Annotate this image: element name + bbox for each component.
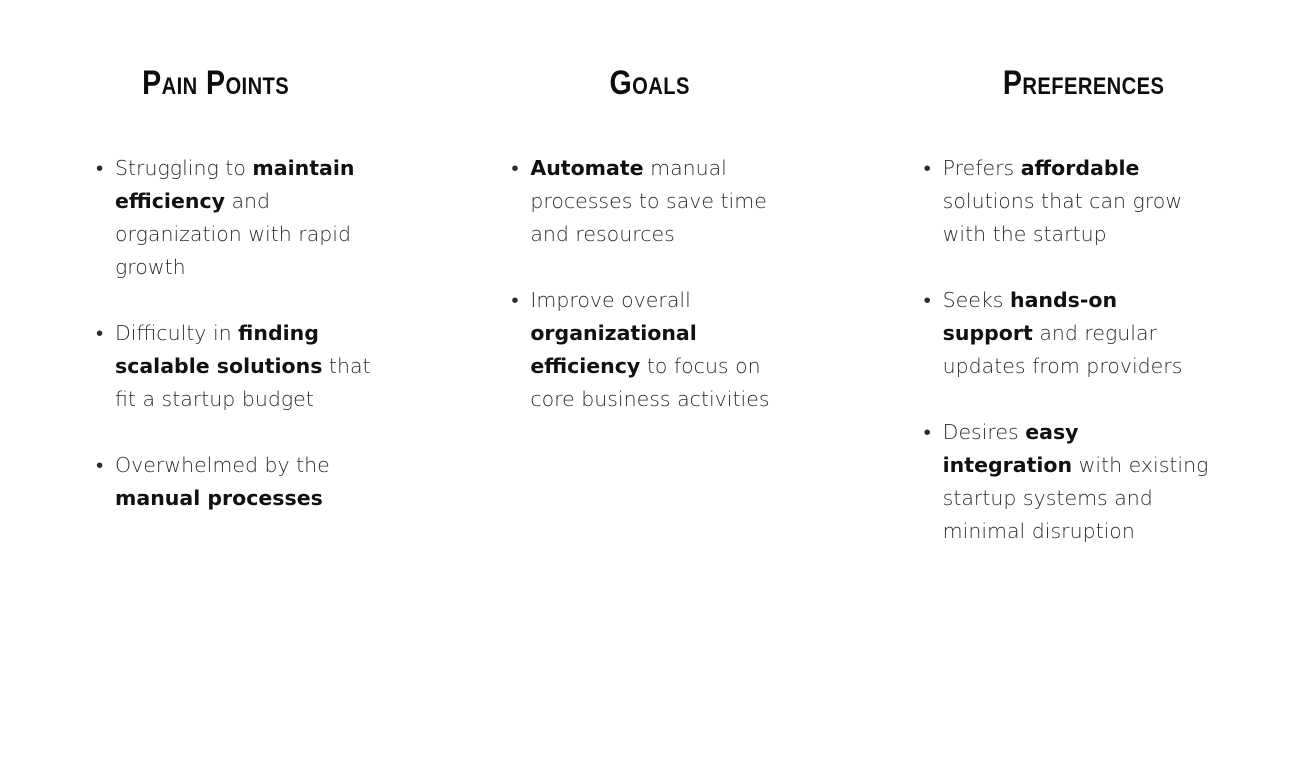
bullet-dot-icon: • [924,416,931,449]
bullet-list-preferences: •Prefers affordable solutions that can g… [924,152,1214,548]
columns-container: Pain Points •Struggling to maintain effi… [0,0,1300,548]
list-item: •Desires easy integration with existing … [924,416,1214,548]
list-item: •Difficulty in finding scalable solution… [96,317,396,416]
list-item-text: Desires easy integration with existing s… [943,420,1209,543]
bullet-dot-icon: • [96,449,103,482]
list-item-text: Struggling to maintain efficiency and or… [115,156,354,279]
bullet-dot-icon: • [511,284,518,317]
list-item-text: Overwhelmed by the manual processes [115,453,330,510]
bullet-dot-icon: • [96,152,103,185]
persona-slide: Pain Points •Struggling to maintain effi… [0,0,1300,768]
bullet-list-goals: •Automate manual processes to save time … [511,152,803,416]
list-item: •Seeks hands-on support and regular upda… [924,284,1214,383]
bullet-dot-icon: • [924,284,931,317]
column-heading-pain-points: Pain Points [33,66,399,100]
list-item: •Prefers affordable solutions that can g… [924,152,1214,251]
column-preferences: Preferences •Prefers affordable solution… [867,0,1300,548]
emphasis-text: manual processes [115,486,323,510]
column-heading-preferences: Preferences [901,66,1265,100]
column-heading-goals: Goals [468,66,832,100]
emphasis-text: Automate [530,156,643,180]
column-goals: Goals •Automate manual processes to save… [433,0,866,416]
list-item: •Overwhelmed by the manual processes [96,449,396,515]
list-item-text: Prefers affordable solutions that can gr… [943,156,1182,246]
emphasis-text: affordable [1021,156,1140,180]
bullet-dot-icon: • [511,152,518,185]
list-item-text: Automate manual processes to save time a… [530,156,767,246]
bullet-dot-icon: • [924,152,931,185]
list-item: •Improve overall organizational efficien… [511,284,803,416]
list-item: •Automate manual processes to save time … [511,152,803,251]
list-item-text: Seeks hands-on support and regular updat… [943,288,1183,378]
bullet-list-pain-points: •Struggling to maintain efficiency and o… [96,152,396,515]
column-pain-points: Pain Points •Struggling to maintain effi… [0,0,433,515]
bullet-dot-icon: • [96,317,103,350]
list-item-text: Difficulty in finding scalable solutions… [115,321,371,411]
list-item-text: Improve overall organizational efficienc… [530,288,769,411]
list-item: •Struggling to maintain efficiency and o… [96,152,396,284]
